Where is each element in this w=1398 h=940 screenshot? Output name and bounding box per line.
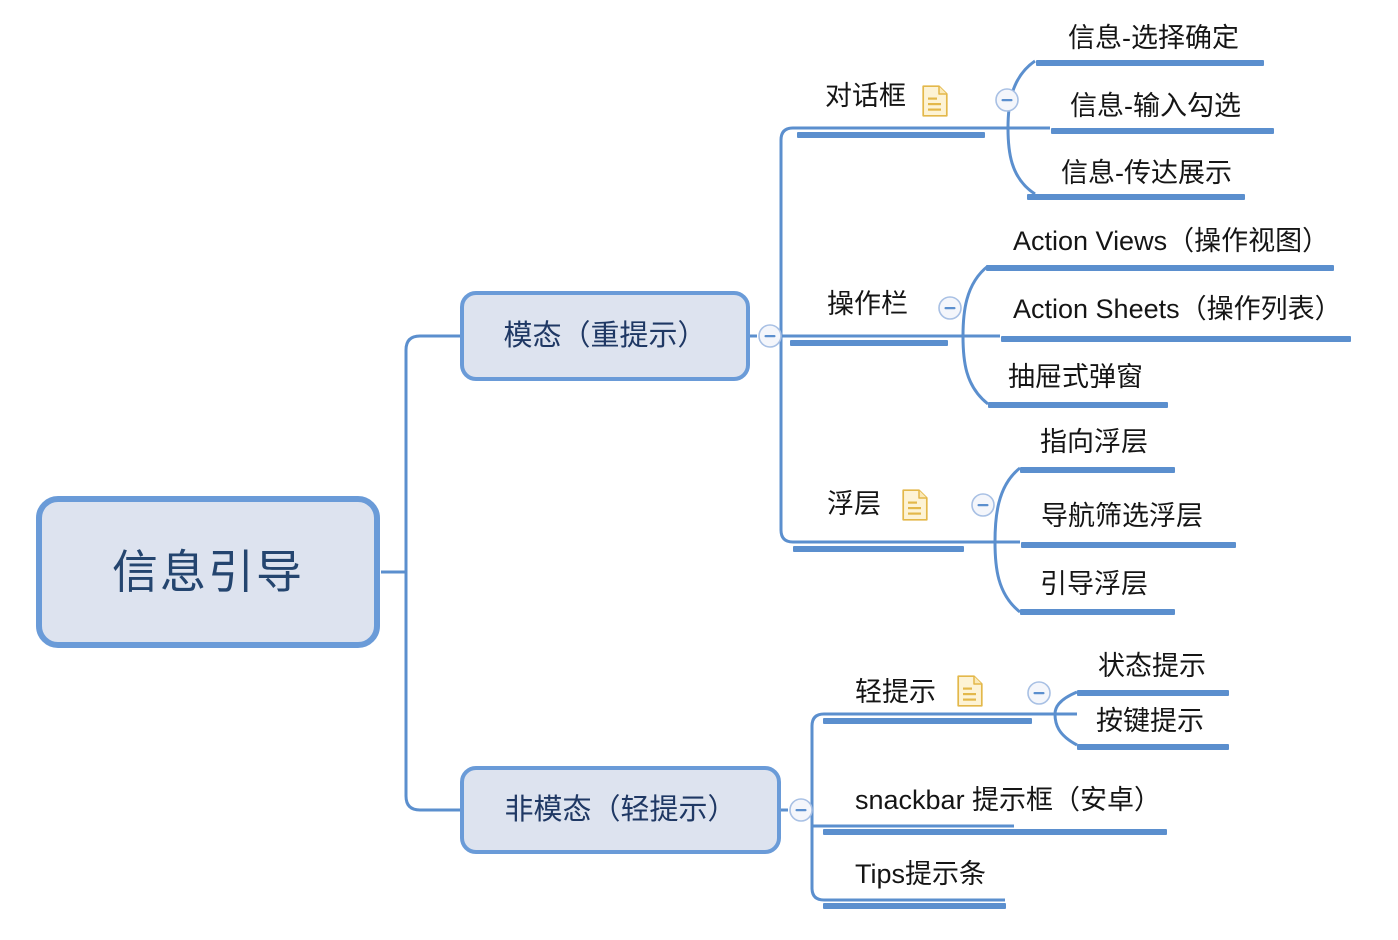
root-node-label: 信息引导 bbox=[112, 549, 304, 595]
leaf-overlay-1[interactable]: 指向浮层 bbox=[1040, 428, 1148, 458]
leaf-dialog-3-label: 信息-传达展示 bbox=[1061, 159, 1232, 189]
leaf-dialog-2-label: 信息-输入勾选 bbox=[1070, 92, 1241, 122]
leaf-actionbar-1-label: Action Views（操作视图） bbox=[1013, 227, 1329, 257]
collapse-toggle-nonmodal[interactable] bbox=[788, 797, 814, 823]
topic-lighttip[interactable]: 轻提示 bbox=[855, 678, 936, 708]
collapse-toggle-dialog[interactable] bbox=[994, 87, 1020, 113]
note-document-icon-dialog bbox=[922, 85, 948, 117]
leaf-actionbar-2-label: Action Sheets（操作列表） bbox=[1013, 295, 1342, 325]
collapse-toggle-overlay[interactable] bbox=[970, 492, 996, 518]
topic-snackbar[interactable]: snackbar 提示框（安卓） bbox=[855, 786, 1161, 816]
topic-actionbar-label: 操作栏 bbox=[827, 290, 908, 320]
leaf-underline-overlay-2 bbox=[1021, 542, 1236, 548]
leaf-lighttip-1-label: 状态提示 bbox=[1098, 652, 1206, 682]
leaf-actionbar-2[interactable]: Action Sheets（操作列表） bbox=[1013, 295, 1342, 325]
leaf-underline-lighttip-1 bbox=[1077, 690, 1229, 696]
branch-node-nonmodal[interactable]: 非模态（轻提示） bbox=[460, 766, 781, 854]
topic-underline-actionbar bbox=[790, 340, 948, 346]
leaf-dialog-2[interactable]: 信息-输入勾选 bbox=[1070, 92, 1241, 122]
leaf-lighttip-2-label: 按键提示 bbox=[1096, 707, 1204, 737]
root-node[interactable]: 信息引导 bbox=[36, 496, 380, 648]
leaf-underline-dialog-2 bbox=[1051, 128, 1274, 134]
leaf-underline-actionbar-2 bbox=[1001, 336, 1351, 342]
leaf-underline-dialog-1 bbox=[1036, 60, 1264, 66]
leaf-lighttip-2[interactable]: 按键提示 bbox=[1096, 707, 1204, 737]
branch-node-modal-label: 模态（重提示） bbox=[503, 322, 706, 351]
topic-overlay-label: 浮层 bbox=[827, 490, 881, 520]
leaf-dialog-3[interactable]: 信息-传达展示 bbox=[1061, 159, 1232, 189]
collapse-toggle-actionbar[interactable] bbox=[937, 295, 963, 321]
topic-underline-lighttip bbox=[823, 718, 1032, 724]
topic-underline-dialog bbox=[797, 132, 985, 138]
leaf-overlay-2[interactable]: 导航筛选浮层 bbox=[1041, 502, 1203, 532]
leaf-underline-overlay-1 bbox=[1020, 467, 1175, 473]
topic-lighttip-label: 轻提示 bbox=[855, 678, 936, 708]
topic-tips[interactable]: Tips提示条 bbox=[855, 860, 986, 890]
topic-snackbar-label: snackbar 提示框（安卓） bbox=[855, 786, 1161, 816]
topic-underline-snackbar bbox=[823, 829, 1167, 835]
leaf-underline-dialog-3 bbox=[1027, 194, 1245, 200]
topic-dialog[interactable]: 对话框 bbox=[825, 82, 906, 112]
note-document-icon-lighttip bbox=[957, 675, 983, 707]
leaf-underline-actionbar-3 bbox=[988, 402, 1168, 408]
leaf-underline-lighttip-2 bbox=[1077, 744, 1229, 750]
leaf-lighttip-1[interactable]: 状态提示 bbox=[1098, 652, 1206, 682]
topic-overlay[interactable]: 浮层 bbox=[827, 490, 881, 520]
topic-underline-overlay bbox=[793, 546, 964, 552]
note-document-icon-overlay bbox=[902, 489, 928, 521]
leaf-dialog-1-label: 信息-选择确定 bbox=[1068, 24, 1239, 54]
leaf-actionbar-1[interactable]: Action Views（操作视图） bbox=[1013, 227, 1329, 257]
leaf-dialog-1[interactable]: 信息-选择确定 bbox=[1068, 24, 1239, 54]
topic-dialog-label: 对话框 bbox=[825, 82, 906, 112]
leaf-underline-overlay-3 bbox=[1020, 609, 1175, 615]
leaf-overlay-1-label: 指向浮层 bbox=[1040, 428, 1148, 458]
topic-actionbar[interactable]: 操作栏 bbox=[827, 290, 908, 320]
leaf-overlay-3[interactable]: 引导浮层 bbox=[1040, 570, 1148, 600]
leaf-actionbar-3[interactable]: 抽屉式弹窗 bbox=[1008, 363, 1143, 393]
leaf-overlay-2-label: 导航筛选浮层 bbox=[1041, 502, 1203, 532]
collapse-toggle-modal[interactable] bbox=[757, 323, 783, 349]
leaf-overlay-3-label: 引导浮层 bbox=[1040, 570, 1148, 600]
leaf-underline-actionbar-1 bbox=[986, 265, 1334, 271]
branch-node-modal[interactable]: 模态（重提示） bbox=[460, 291, 750, 381]
leaf-actionbar-3-label: 抽屉式弹窗 bbox=[1008, 363, 1143, 393]
mindmap-canvas: 信息引导 模态（重提示） 非模态（轻提示） 对话框 bbox=[0, 0, 1398, 940]
collapse-toggle-lighttip[interactable] bbox=[1026, 680, 1052, 706]
topic-tips-label: Tips提示条 bbox=[855, 860, 986, 890]
branch-node-nonmodal-label: 非模态（轻提示） bbox=[504, 796, 736, 825]
topic-underline-tips bbox=[823, 903, 1006, 909]
